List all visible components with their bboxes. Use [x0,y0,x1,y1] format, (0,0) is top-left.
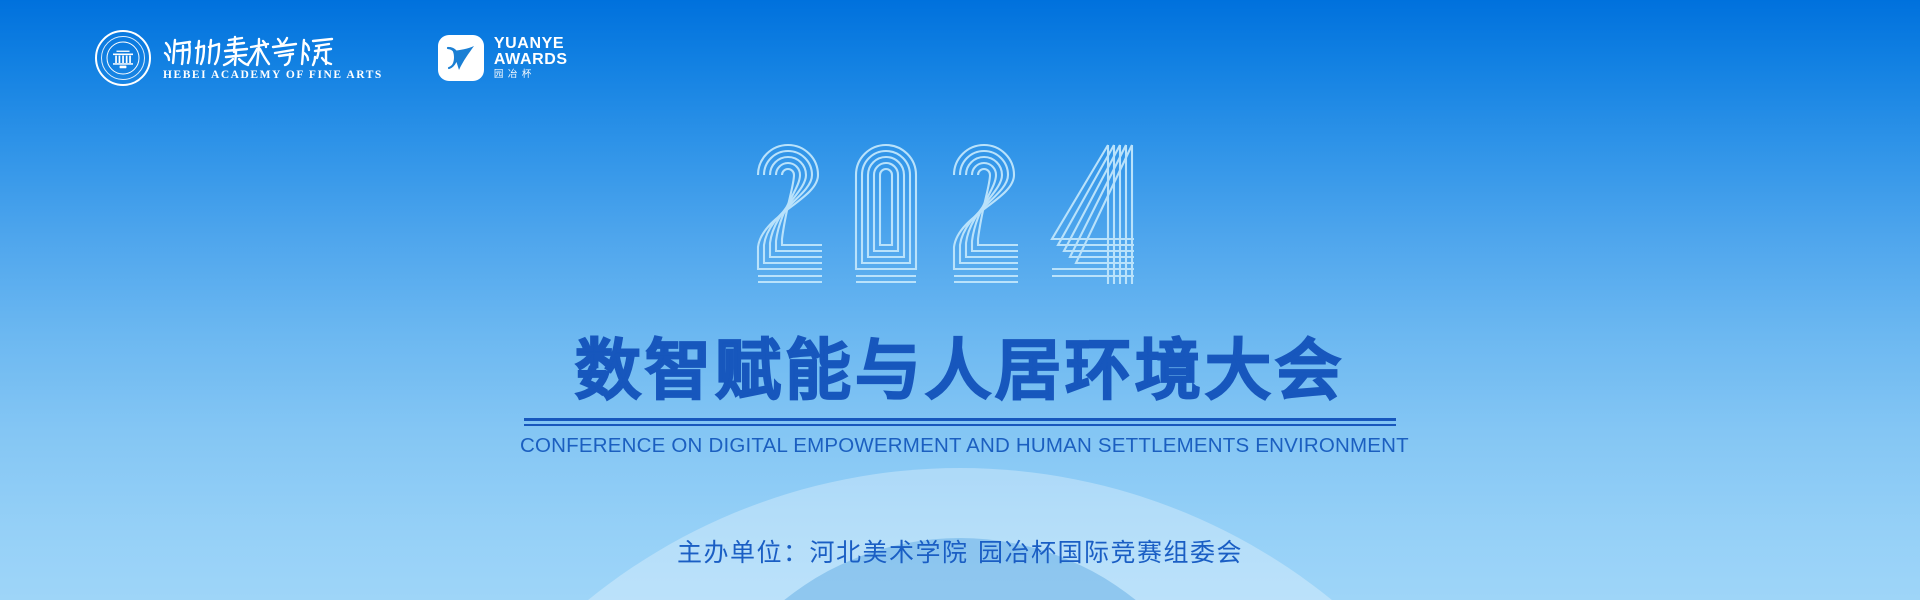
yuanye-line-1: YUANYE [494,36,568,52]
yuanye-swoosh-icon [438,35,484,81]
yuanye-awards-logo[interactable]: YUANYE AWARDS 园冶杯 [438,35,568,81]
hebei-academy-logo[interactable]: HEBEI ACADEMY OF FINE ARTS [95,30,383,86]
yuanye-line-2: AWARDS [494,52,568,68]
divider-rule-2 [524,424,1396,426]
hebei-english-name: HEBEI ACADEMY OF FINE ARTS [163,70,383,82]
title-divider-rules [524,418,1396,426]
yuanye-chinese-name: 园冶杯 [494,70,568,80]
logo-row: HEBEI ACADEMY OF FINE ARTS YUANYE AWARDS… [95,30,568,86]
hebei-chinese-name-art [163,34,335,68]
subtitle-english: CONFERENCE ON DIGITAL EMPOWERMENT AND HU… [520,434,1400,458]
organizer-line: 主办单位：河北美术学院 园冶杯国际竞赛组委会 [0,533,1920,569]
hebei-academy-text: HEBEI ACADEMY OF FINE ARTS [163,34,383,82]
title-block: 数智赋能与人居环境大会 CONFERENCE ON DIGITAL EMPOWE… [0,338,1920,458]
yuanye-awards-text: YUANYE AWARDS 园冶杯 [494,36,568,80]
conference-banner: HEBEI ACADEMY OF FINE ARTS YUANYE AWARDS… [0,0,1920,600]
main-title: 数智赋能与人居环境大会 [0,338,1920,404]
year-2024-graphic [0,133,1920,285]
gate-seal-icon [95,30,151,86]
divider-rule-1 [524,418,1396,421]
